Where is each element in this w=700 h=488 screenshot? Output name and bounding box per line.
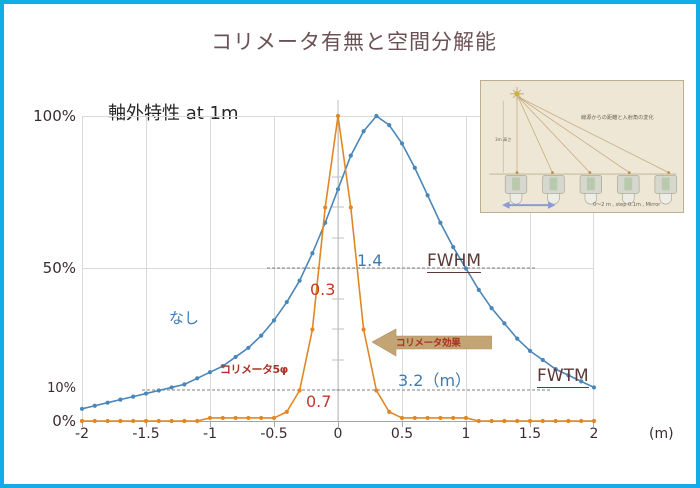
series-marker	[246, 416, 250, 420]
series-marker	[579, 419, 583, 423]
y-tick-50: 50%	[43, 259, 76, 277]
series-marker	[336, 187, 340, 191]
series-marker	[374, 114, 378, 118]
series-marker	[93, 419, 97, 423]
series-marker	[106, 401, 110, 405]
series-marker	[554, 419, 558, 423]
series-marker	[234, 416, 238, 420]
inset-diagram: 線源からの距離と入射角の変化 3m 高さ 0～2 m , step 0.1m ,…	[480, 80, 684, 213]
series-marker	[310, 251, 314, 255]
series-marker	[298, 279, 302, 283]
series-marker	[477, 419, 481, 423]
series-marker	[528, 349, 532, 353]
series-marker	[515, 419, 519, 423]
ray-lines	[517, 97, 669, 173]
series-marker	[490, 306, 494, 310]
series-marker	[541, 358, 545, 362]
series-marker	[259, 416, 263, 420]
series-marker	[157, 388, 161, 392]
label-no-collimator: なし	[169, 307, 199, 328]
x-tick--1_5: -1.5	[132, 426, 159, 442]
series-marker	[234, 355, 238, 359]
inset-diagram-svg	[481, 81, 683, 212]
label-fwtm-red-value: 0.7	[306, 392, 331, 411]
series-marker	[362, 327, 366, 331]
y-axis-labels: 100% 50% 10% 0%	[4, 116, 76, 436]
series-marker	[413, 166, 417, 170]
series-marker	[515, 337, 519, 341]
series-marker	[477, 288, 481, 292]
series-marker	[285, 300, 289, 304]
series-marker	[413, 416, 417, 420]
label-fwhm-red-value: 0.3	[310, 280, 335, 299]
label-fwtm: FWTM	[537, 366, 589, 388]
series-marker	[182, 419, 186, 423]
series-marker	[400, 416, 404, 420]
series-marker	[157, 419, 161, 423]
series-marker	[272, 416, 276, 420]
axis-tick-2	[210, 422, 211, 427]
y-tick-0: 0%	[52, 412, 76, 430]
series-marker	[80, 407, 84, 411]
x-axis-labels: -2 -1.5 -1 -0.5 0 0.5 1 1.5 2	[82, 426, 642, 450]
inset-caption: 線源からの距離と入射角の変化	[581, 114, 654, 121]
series-marker	[502, 321, 506, 325]
series-marker	[349, 154, 353, 158]
x-tick-0_5: 0.5	[391, 426, 413, 442]
series-marker	[438, 416, 442, 420]
series-marker	[502, 419, 506, 423]
series-marker	[426, 416, 430, 420]
series-marker	[323, 205, 327, 209]
series-marker	[362, 129, 366, 133]
label-fwtm-blue-value: 3.2（m）	[398, 367, 471, 391]
y-tick-100: 100%	[33, 107, 76, 125]
series-marker	[195, 376, 199, 380]
ray-endpoints	[516, 171, 670, 174]
series-marker	[170, 385, 174, 389]
series-marker	[80, 419, 84, 423]
x-tick-0: 0	[334, 426, 343, 442]
label-fwhm: FWHM	[427, 251, 481, 273]
x-tick-2: 2	[590, 426, 599, 442]
series-marker	[566, 419, 570, 423]
series-marker	[464, 416, 468, 420]
series-marker	[259, 334, 263, 338]
series-marker	[374, 388, 378, 392]
axis-tick-6	[466, 422, 467, 427]
series-marker	[426, 193, 430, 197]
series-marker	[451, 416, 455, 420]
x-tick--2: -2	[75, 426, 89, 442]
axis-tick-4	[338, 422, 339, 427]
series-marker	[144, 391, 148, 395]
label-collimator-effect: コリメータ効果	[396, 335, 460, 349]
x-tick-1_5: 1.5	[519, 426, 541, 442]
inset-height-label: 3m 高さ	[495, 138, 511, 143]
series-marker	[349, 205, 353, 209]
series-marker	[387, 123, 391, 127]
y-tick-10: 10%	[47, 381, 76, 396]
inset-footer: 0～2 m , step 0.1m , Mirror	[593, 201, 660, 208]
series-marker	[490, 419, 494, 423]
axis-tick-3	[274, 422, 275, 427]
series-marker	[170, 419, 174, 423]
series-marker	[592, 385, 596, 389]
label-collimator-5phi: コリメータ5φ	[220, 361, 288, 377]
series-marker	[144, 419, 148, 423]
series-marker	[336, 114, 340, 118]
x-tick--0_5: -0.5	[260, 426, 287, 442]
series-marker	[310, 327, 314, 331]
series-marker	[272, 318, 276, 322]
detector-icons	[505, 176, 676, 205]
series-marker	[131, 419, 135, 423]
series-marker	[208, 370, 212, 374]
series-marker	[118, 419, 122, 423]
series-marker	[451, 245, 455, 249]
series-marker	[592, 419, 596, 423]
series-marker	[298, 388, 302, 392]
series-marker	[118, 398, 122, 402]
series-marker	[93, 404, 97, 408]
axis-tick-5	[402, 422, 403, 427]
series-marker	[541, 419, 545, 423]
series-marker	[221, 416, 225, 420]
slide-frame: コリメータ有無と空間分解能 軸外特性 at 1m 100% 50% 10% 0%…	[0, 0, 700, 488]
page-title: コリメータ有無と空間分解能	[4, 26, 700, 56]
series-marker	[106, 419, 110, 423]
x-axis-unit: (m)	[649, 426, 674, 442]
label-fwhm-blue-value: 1.4	[357, 251, 382, 270]
series-marker	[400, 141, 404, 145]
series-marker	[528, 419, 532, 423]
series-marker	[208, 416, 212, 420]
range-arrow-icon	[503, 202, 554, 208]
series-marker	[438, 221, 442, 225]
series-marker	[182, 382, 186, 386]
series-marker	[195, 419, 199, 423]
series-marker	[387, 410, 391, 414]
series-marker	[131, 395, 135, 399]
series-marker	[285, 410, 289, 414]
x-tick--1: -1	[203, 426, 217, 442]
x-tick-1: 1	[462, 426, 471, 442]
series-marker	[246, 346, 250, 350]
